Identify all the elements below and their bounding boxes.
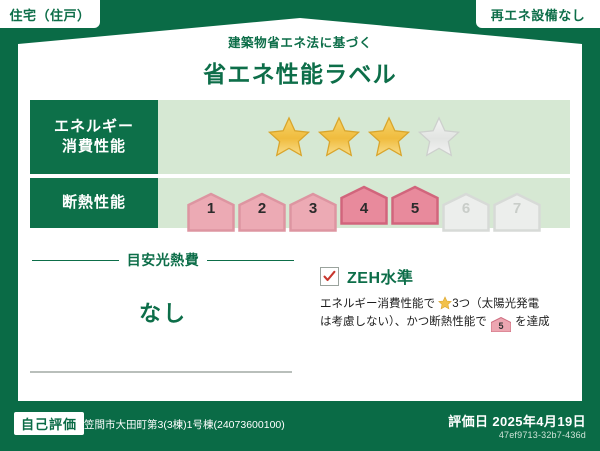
insulation-performance-key: 断熱性能	[30, 178, 158, 228]
star-rating	[267, 115, 461, 159]
evaluation-date: 評価日 2025年4月19日	[448, 411, 586, 430]
insulation-level-value: 5	[411, 200, 419, 217]
footer-bar: 自己評価 笠間市大田町第3(3棟)1号棟(24073600100) 評価日 20…	[0, 401, 600, 451]
building-type-tag: 住宅（住戸）	[0, 0, 100, 28]
zeh-desc-stars: 3つ（太陽光発電	[452, 298, 539, 310]
zeh-heading: ZEH水準	[320, 264, 576, 288]
insulation-level-badge: 3	[289, 192, 337, 222]
zeh-desc-part1: エネルギー消費性能で	[320, 298, 435, 310]
property-address: 笠間市大田町第3(3棟)1号棟(24073600100)	[84, 417, 285, 432]
insulation-level-badge: 4	[340, 185, 388, 222]
insulation-level-value: 3	[309, 200, 317, 217]
insulation-level-badge: 2	[238, 192, 286, 222]
zeh-checkbox	[320, 267, 339, 286]
label-uuid: 47ef9713-32b7-436d	[499, 430, 586, 440]
zeh-desc-part2: は考慮しない）、かつ断熱性能で	[320, 316, 487, 328]
energy-label-line2: 消費性能	[62, 137, 126, 157]
lower-section: 目安光熱費 なし ZEH水準 エネルギー消費性能で 3つ（太陽光発電	[24, 250, 576, 390]
zeh-label: ZEH水準	[347, 264, 414, 288]
rule-right	[207, 260, 294, 261]
energy-performance-label: 住宅（住戸） 再エネ設備なし 建築物省エネ法に基づく 省エネ性能ラベル エネルギ…	[0, 0, 600, 451]
insulation-level-value: 7	[513, 200, 521, 217]
inline-badge-value: 5	[498, 321, 503, 331]
zeh-description: エネルギー消費性能で 3つ（太陽光発電 は考慮しない）、かつ断熱性能で 5 を達…	[320, 295, 576, 332]
rule-left	[32, 260, 119, 261]
utility-cost-section: 目安光熱費 なし	[24, 250, 302, 390]
insulation-level-badge: 7	[493, 192, 541, 222]
energy-label-line1: エネルギー	[54, 117, 134, 137]
utility-cost-heading: 目安光熱費	[24, 250, 302, 270]
utility-cost-value: なし	[24, 296, 302, 328]
vertical-divider	[312, 254, 313, 386]
performance-panel: エネルギー 消費性能 断熱性能 1234567	[30, 100, 570, 232]
utility-cost-title: 目安光熱費	[127, 250, 200, 270]
title-main: 省エネ性能ラベル	[0, 55, 600, 89]
energy-performance-row: エネルギー 消費性能	[30, 100, 570, 174]
insulation-level-badge: 6	[442, 192, 490, 222]
energy-performance-key: エネルギー 消費性能	[30, 100, 158, 174]
insulation-level-value: 1	[207, 200, 215, 217]
star-filled-icon	[267, 115, 311, 159]
insulation-level-badge: 5	[391, 185, 439, 222]
star-filled-icon	[367, 115, 411, 159]
insulation-label: 断熱性能	[62, 193, 126, 213]
insulation-level-value: 4	[360, 200, 368, 217]
insulation-performance-row: 断熱性能 1234567	[30, 178, 570, 228]
renewable-equipment-tag: 再エネ設備なし	[476, 0, 600, 28]
self-evaluation-badge: 自己評価	[14, 412, 84, 435]
star-icon	[438, 296, 452, 310]
label-title: 建築物省エネ法に基づく 省エネ性能ラベル	[0, 32, 600, 89]
star-filled-icon	[317, 115, 361, 159]
inline-insulation-badge: 5	[491, 317, 511, 332]
insulation-level-value: 6	[462, 200, 470, 217]
energy-performance-value	[158, 100, 570, 174]
insulation-level-scale: 1234567	[187, 185, 541, 222]
insulation-level-badge: 1	[187, 192, 235, 222]
check-icon	[323, 270, 336, 283]
zeh-desc-part3: を達成	[515, 316, 550, 328]
insulation-performance-value: 1234567	[158, 178, 570, 228]
zeh-section: ZEH水準 エネルギー消費性能で 3つ（太陽光発電 は考慮しない）、かつ断熱性能…	[320, 264, 576, 332]
star-empty-icon	[417, 115, 461, 159]
title-subtitle: 建築物省エネ法に基づく	[0, 32, 600, 51]
insulation-level-value: 2	[258, 200, 266, 217]
cost-underline	[30, 371, 292, 373]
